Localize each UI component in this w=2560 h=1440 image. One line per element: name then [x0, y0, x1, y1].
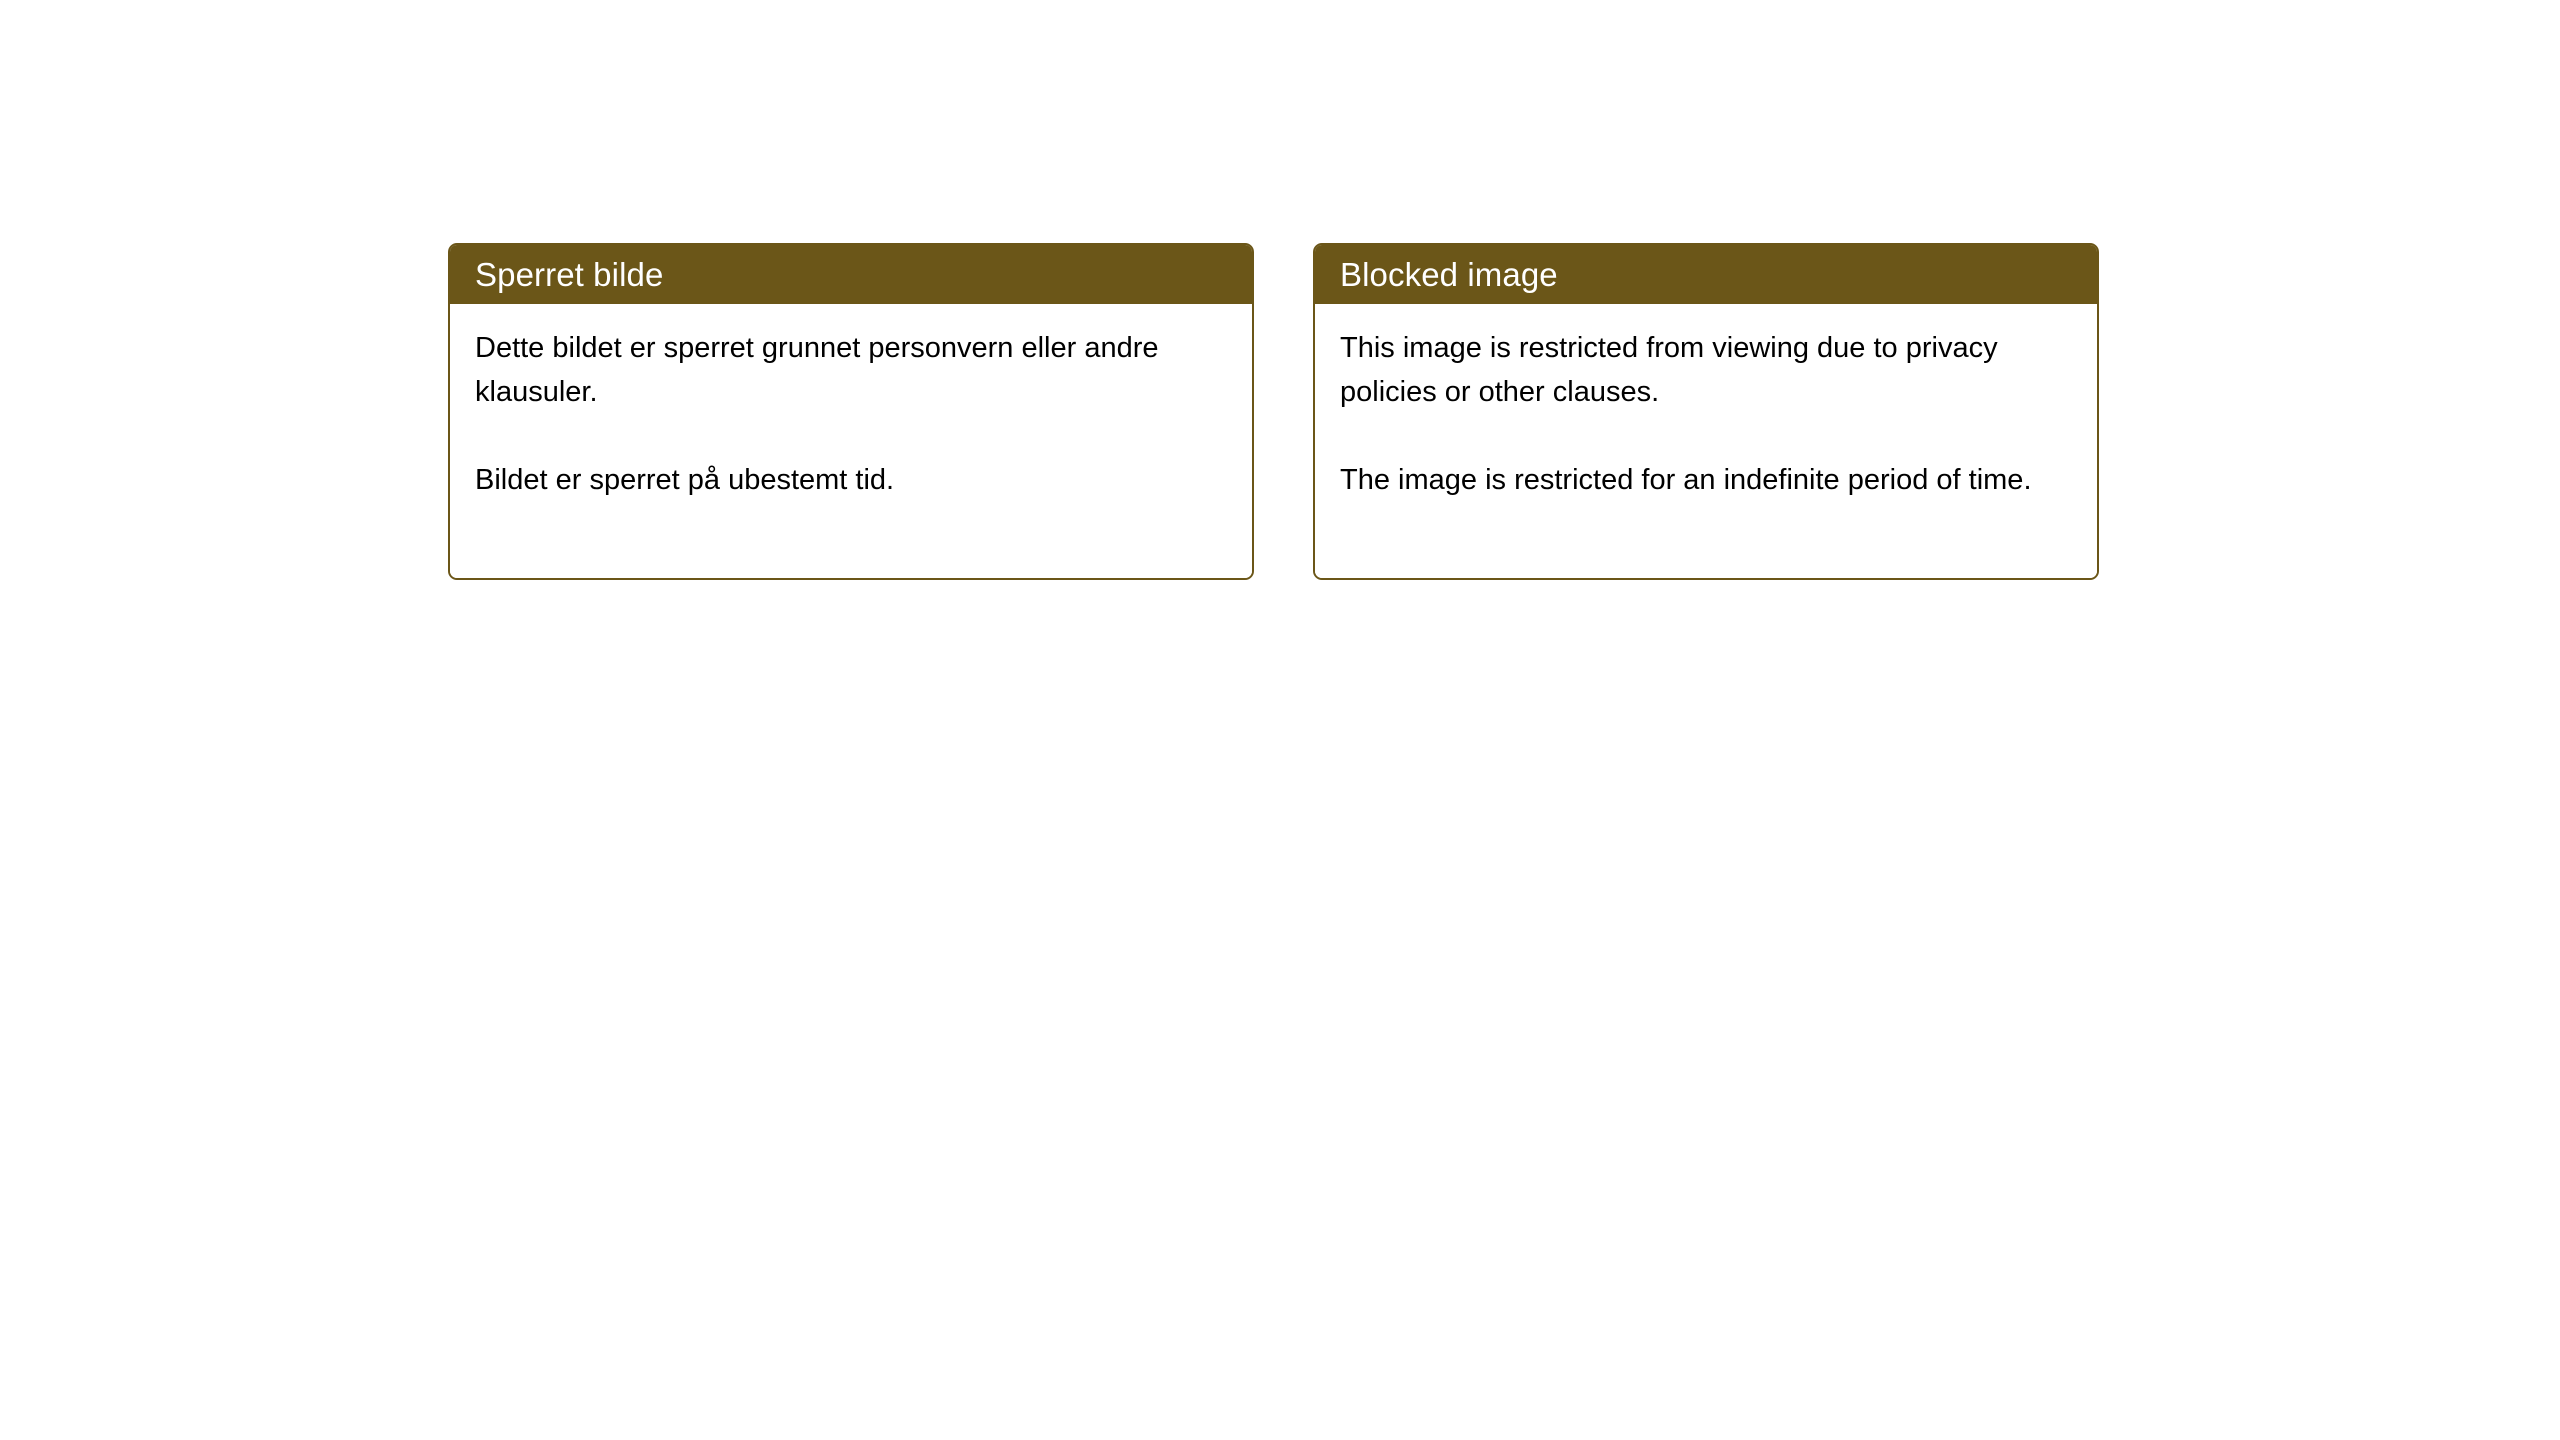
- card-title-norwegian: Sperret bilde: [450, 245, 1252, 304]
- blocked-image-card-norwegian: Sperret bilde Dette bildet er sperret gr…: [448, 243, 1254, 580]
- card-paragraph: Dette bildet er sperret grunnet personve…: [475, 326, 1230, 414]
- blocked-image-card-english: Blocked image This image is restricted f…: [1313, 243, 2099, 580]
- card-paragraph: The image is restricted for an indefinit…: [1340, 458, 2075, 502]
- card-body-english: This image is restricted from viewing du…: [1315, 304, 2097, 578]
- card-title-english: Blocked image: [1315, 245, 2097, 304]
- card-body-norwegian: Dette bildet er sperret grunnet personve…: [450, 304, 1252, 578]
- card-paragraph: This image is restricted from viewing du…: [1340, 326, 2075, 414]
- blocked-image-notice-deck: Sperret bilde Dette bildet er sperret gr…: [448, 243, 2099, 580]
- card-paragraph: Bildet er sperret på ubestemt tid.: [475, 458, 1230, 502]
